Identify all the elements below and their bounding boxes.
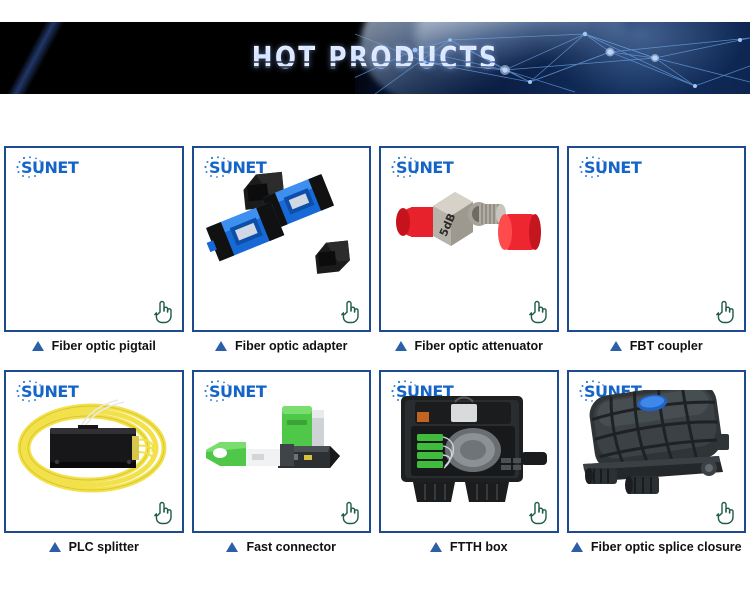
product-cell: SUNET [0, 370, 188, 533]
pointing-hand-cursor-icon [339, 499, 361, 525]
pointing-hand-cursor-icon [339, 298, 361, 324]
banner-title-wrap: HOT PRODUCTS [0, 22, 750, 94]
product-cell: SUNET [188, 146, 376, 332]
triangle-bullet-icon [610, 341, 622, 351]
product-label-fiber-optic-splice-closure[interactable]: Fiber optic splice closure [567, 533, 747, 561]
triangle-bullet-icon [395, 341, 407, 351]
product-row-1: SUNET [0, 146, 750, 332]
product-label-fiber-optic-attenuator[interactable]: Fiber optic attenuator [379, 332, 559, 360]
product-label-text: PLC splitter [69, 540, 139, 554]
triangle-bullet-icon [226, 542, 238, 552]
product-cell-caption: Fiber optic pigtail [0, 332, 188, 360]
product-label-text: Fiber optic splice closure [591, 540, 742, 554]
triangle-bullet-icon [49, 542, 61, 552]
row-spacer [0, 360, 750, 370]
product-cell-caption: FTTH box [375, 533, 563, 561]
product-label-text: Fiber optic adapter [235, 339, 348, 353]
product-row-2: SUNET [0, 370, 750, 533]
product-grid: SUNET [0, 146, 750, 561]
triangle-bullet-icon [32, 341, 44, 351]
pointing-hand-cursor-icon [527, 499, 549, 525]
triangle-bullet-icon [430, 542, 442, 552]
product-cell-caption: Fiber optic splice closure [563, 533, 750, 561]
pointing-hand-cursor-icon [714, 499, 736, 525]
product-cell-caption: PLC splitter [0, 533, 188, 561]
product-cell: SUNET [188, 370, 376, 533]
pointing-hand-cursor-icon [152, 499, 174, 525]
product-cell: SUNET [375, 370, 563, 533]
triangle-bullet-icon [571, 542, 583, 552]
product-cell-caption: Fiber optic adapter [188, 332, 376, 360]
product-label-text: Fiber optic pigtail [52, 339, 156, 353]
product-caption-row-2: PLC splitter Fast connector FTTH box Fib… [0, 533, 750, 561]
product-cell-caption: Fast connector [188, 533, 376, 561]
product-label-fiber-optic-adapter[interactable]: Fiber optic adapter [192, 332, 372, 360]
hot-products-page: HOT PRODUCTS [0, 0, 750, 592]
product-label-plc-splitter[interactable]: PLC splitter [4, 533, 184, 561]
product-cell-caption: Fiber optic attenuator [375, 332, 563, 360]
product-label-text: FTTH box [450, 540, 508, 554]
product-label-text: Fiber optic attenuator [415, 339, 543, 353]
product-label-fbt-coupler[interactable]: FBT coupler [567, 332, 747, 360]
product-label-ftth-box[interactable]: FTTH box [379, 533, 559, 561]
page-title: HOT PRODUCTS [251, 41, 498, 76]
product-card-fiber-optic-adapter[interactable]: SUNET [192, 146, 372, 332]
product-cell-caption: FBT coupler [563, 332, 750, 360]
product-cell: SUNET [0, 146, 188, 332]
product-card-fiber-optic-pigtail[interactable]: SUNET [4, 146, 184, 332]
product-cell: SUNET [563, 146, 750, 332]
product-label-fast-connector[interactable]: Fast connector [192, 533, 372, 561]
pointing-hand-cursor-icon [527, 298, 549, 324]
hero-banner: HOT PRODUCTS [0, 22, 750, 94]
product-card-fast-connector[interactable]: SUNET [192, 370, 372, 533]
product-label-fiber-optic-pigtail[interactable]: Fiber optic pigtail [4, 332, 184, 360]
product-label-text: FBT coupler [630, 339, 703, 353]
product-card-fiber-optic-splice-closure[interactable]: SUNET [567, 370, 747, 533]
product-label-text: Fast connector [246, 540, 336, 554]
product-card-ftth-box[interactable]: SUNET [379, 370, 559, 533]
product-cell: SUNET [563, 370, 750, 533]
product-card-plc-splitter[interactable]: SUNET [4, 370, 184, 533]
pointing-hand-cursor-icon [152, 298, 174, 324]
product-caption-row-1: Fiber optic pigtail Fiber optic adapter … [0, 332, 750, 360]
triangle-bullet-icon [215, 341, 227, 351]
product-card-fbt-coupler[interactable]: SUNET [567, 146, 747, 332]
product-card-fiber-optic-attenuator[interactable]: SUNET [379, 146, 559, 332]
product-cell: SUNET [375, 146, 563, 332]
pointing-hand-cursor-icon [714, 298, 736, 324]
